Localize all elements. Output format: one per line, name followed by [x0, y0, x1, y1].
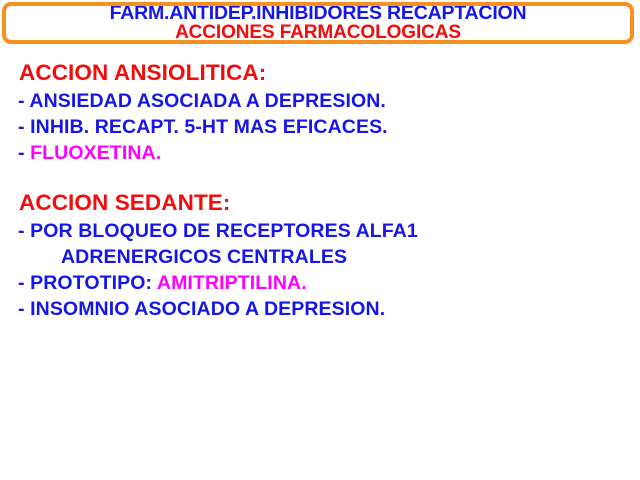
- bullet-item: - FLUOXETINA.: [0, 140, 640, 166]
- bullet-item: - INHIB. RECAPT. 5-HT MAS EFICACES.: [0, 114, 640, 140]
- section-heading-sedante: ACCION SEDANTE:: [0, 188, 640, 218]
- bullet-text: POR BLOQUEO DE RECEPTORES ALFA1: [30, 220, 418, 242]
- bullet-text: INSOMNIO ASOCIADO A DEPRESION.: [30, 298, 385, 320]
- bullet-item: - INSOMNIO ASOCIADO A DEPRESION.: [0, 296, 640, 322]
- bullet-dash: -: [18, 298, 30, 320]
- drug-name-highlight: FLUOXETINA.: [30, 142, 161, 164]
- title-line-secondary: ACCIONES FARMACOLOGICAS: [175, 23, 461, 42]
- bullet-dash: -: [18, 220, 30, 242]
- slide-canvas: FARM.ANTIDEP.INHIBIDORES RECAPTACION ACC…: [0, 0, 640, 480]
- section-heading-ansiolitica: ACCION ANSIOLITICA:: [0, 58, 640, 88]
- bullet-dash: -: [18, 116, 30, 138]
- bullet-item-continuation: ADRENERGICOS CENTRALES: [0, 244, 640, 270]
- bullet-item: - PROTOTIPO: AMITRIPTILINA.: [0, 270, 640, 296]
- bullet-dash: -: [18, 272, 30, 294]
- bullet-text: ADRENERGICOS CENTRALES: [61, 246, 347, 268]
- slide-body: ACCION ANSIOLITICA: - ANSIEDAD ASOCIADA …: [0, 58, 640, 322]
- bullet-text: PROTOTIPO:: [30, 272, 157, 294]
- drug-name-highlight: AMITRIPTILINA.: [157, 272, 307, 294]
- bullet-text: ANSIEDAD ASOCIADA A DEPRESION.: [29, 90, 386, 112]
- title-line-primary: FARM.ANTIDEP.INHIBIDORES RECAPTACION: [110, 4, 527, 23]
- section-spacer: [0, 166, 640, 188]
- bullet-text: INHIB. RECAPT. 5-HT MAS EFICACES.: [30, 116, 388, 138]
- bullet-item: - POR BLOQUEO DE RECEPTORES ALFA1: [0, 218, 640, 244]
- bullet-dash: -: [18, 142, 30, 164]
- title-box: FARM.ANTIDEP.INHIBIDORES RECAPTACION ACC…: [2, 2, 634, 44]
- bullet-dash: -: [18, 90, 29, 112]
- bullet-item: - ANSIEDAD ASOCIADA A DEPRESION.: [0, 88, 640, 114]
